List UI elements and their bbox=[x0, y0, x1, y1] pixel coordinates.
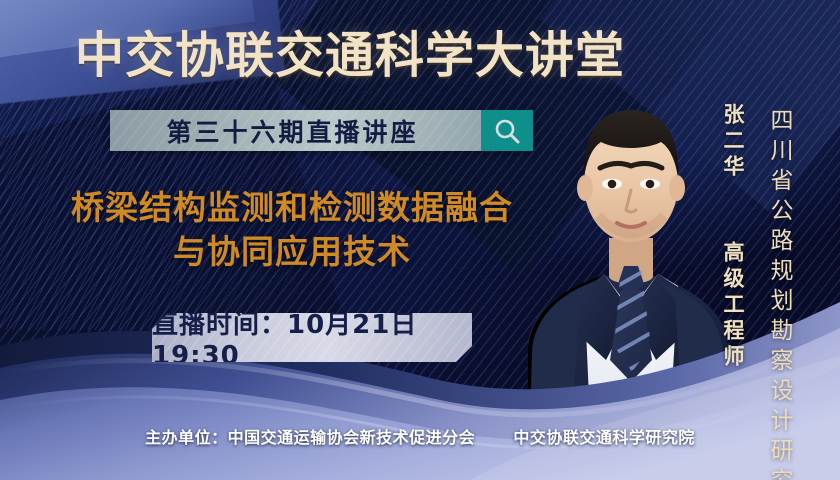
footer-organizer-primary: 主办单位：中国交通运输协会新技术促进分会 bbox=[145, 428, 475, 447]
lecture-title: 桥梁结构监测和检测数据融合 与协同应用技术 bbox=[22, 186, 562, 274]
footer-organizer-secondary: 中交协联交通科学研究院 bbox=[513, 428, 695, 447]
lecture-title-line-2: 与协同应用技术 bbox=[22, 230, 562, 274]
lecture-title-line-1: 桥梁结构监测和检测数据融合 bbox=[22, 186, 562, 230]
poster-canvas: 中交协联交通科学大讲堂 第三十六期直播讲座 桥梁结构监测和检测数据融合 与协同应… bbox=[0, 0, 840, 480]
page-title: 中交协联交通科学大讲堂 bbox=[0, 16, 700, 87]
search-icon[interactable] bbox=[481, 110, 533, 151]
live-time-badge: 直播时间：10月21日19:30 bbox=[152, 313, 472, 362]
episode-bar[interactable]: 第三十六期直播讲座 bbox=[110, 110, 533, 151]
episode-label: 第三十六期直播讲座 bbox=[110, 110, 481, 151]
speaker-name-vertical: 张二华 高级工程师 bbox=[718, 103, 748, 371]
footer-organizers: 主办单位：中国交通运输协会新技术促进分会 中交协联交通科学研究院 bbox=[0, 424, 840, 448]
